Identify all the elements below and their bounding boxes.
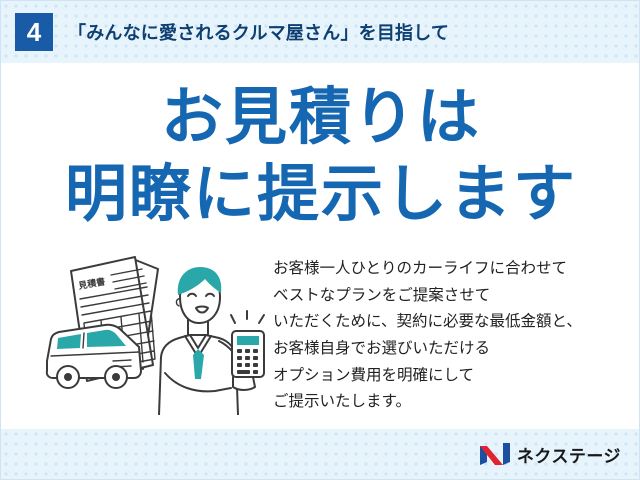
- body-copy-line-3: いただくために、契約に必要な最低金額と、: [273, 308, 623, 335]
- brand-name: ネクステージ: [517, 442, 621, 467]
- body-copy-line-5: オプション費用を明確にして: [273, 362, 623, 389]
- step-number-badge: 4: [15, 13, 53, 51]
- illustration-svg: .ln { fill:none; stroke:#3b3b3b; stroke-…: [35, 253, 273, 415]
- salesperson-illustration: .ln { fill:none; stroke:#3b3b3b; stroke-…: [35, 253, 273, 415]
- header-title: 「みんなに愛されるクルマ屋さん」を目指して: [68, 19, 449, 45]
- main-content-area: お見積りは 明瞭に提示します .ln { fill:none; stroke:#…: [1, 63, 640, 429]
- calculator-icon: [232, 331, 264, 377]
- body-copy-line-4: お客様自身でお選びいただける: [273, 335, 623, 362]
- body-copy: お客様一人ひとりのカーライフに合わせて ベストなプランをご提案させて いただくた…: [273, 255, 623, 415]
- body-copy-line-2: ベストなプランをご提案させて: [273, 282, 623, 309]
- nextage-n-logo-icon: [480, 443, 510, 465]
- body-copy-line-6: ご提示いたします。: [273, 388, 623, 415]
- advertisement-banner: 4 「みんなに愛されるクルマ屋さん」を目指して お見積りは 明瞭に提示します .…: [0, 0, 640, 480]
- van-icon: [47, 325, 141, 388]
- headline-line-1: お見積りは: [1, 79, 640, 156]
- body-copy-line-1: お客様一人ひとりのカーライフに合わせて: [273, 255, 623, 282]
- sparkle-icon: [231, 311, 264, 323]
- headline: お見積りは 明瞭に提示します: [1, 79, 640, 233]
- brand-logo: ネクステージ: [480, 441, 621, 467]
- headline-line-2: 明瞭に提示します: [1, 156, 640, 233]
- header: 4 「みんなに愛されるクルマ屋さん」を目指して: [1, 1, 640, 63]
